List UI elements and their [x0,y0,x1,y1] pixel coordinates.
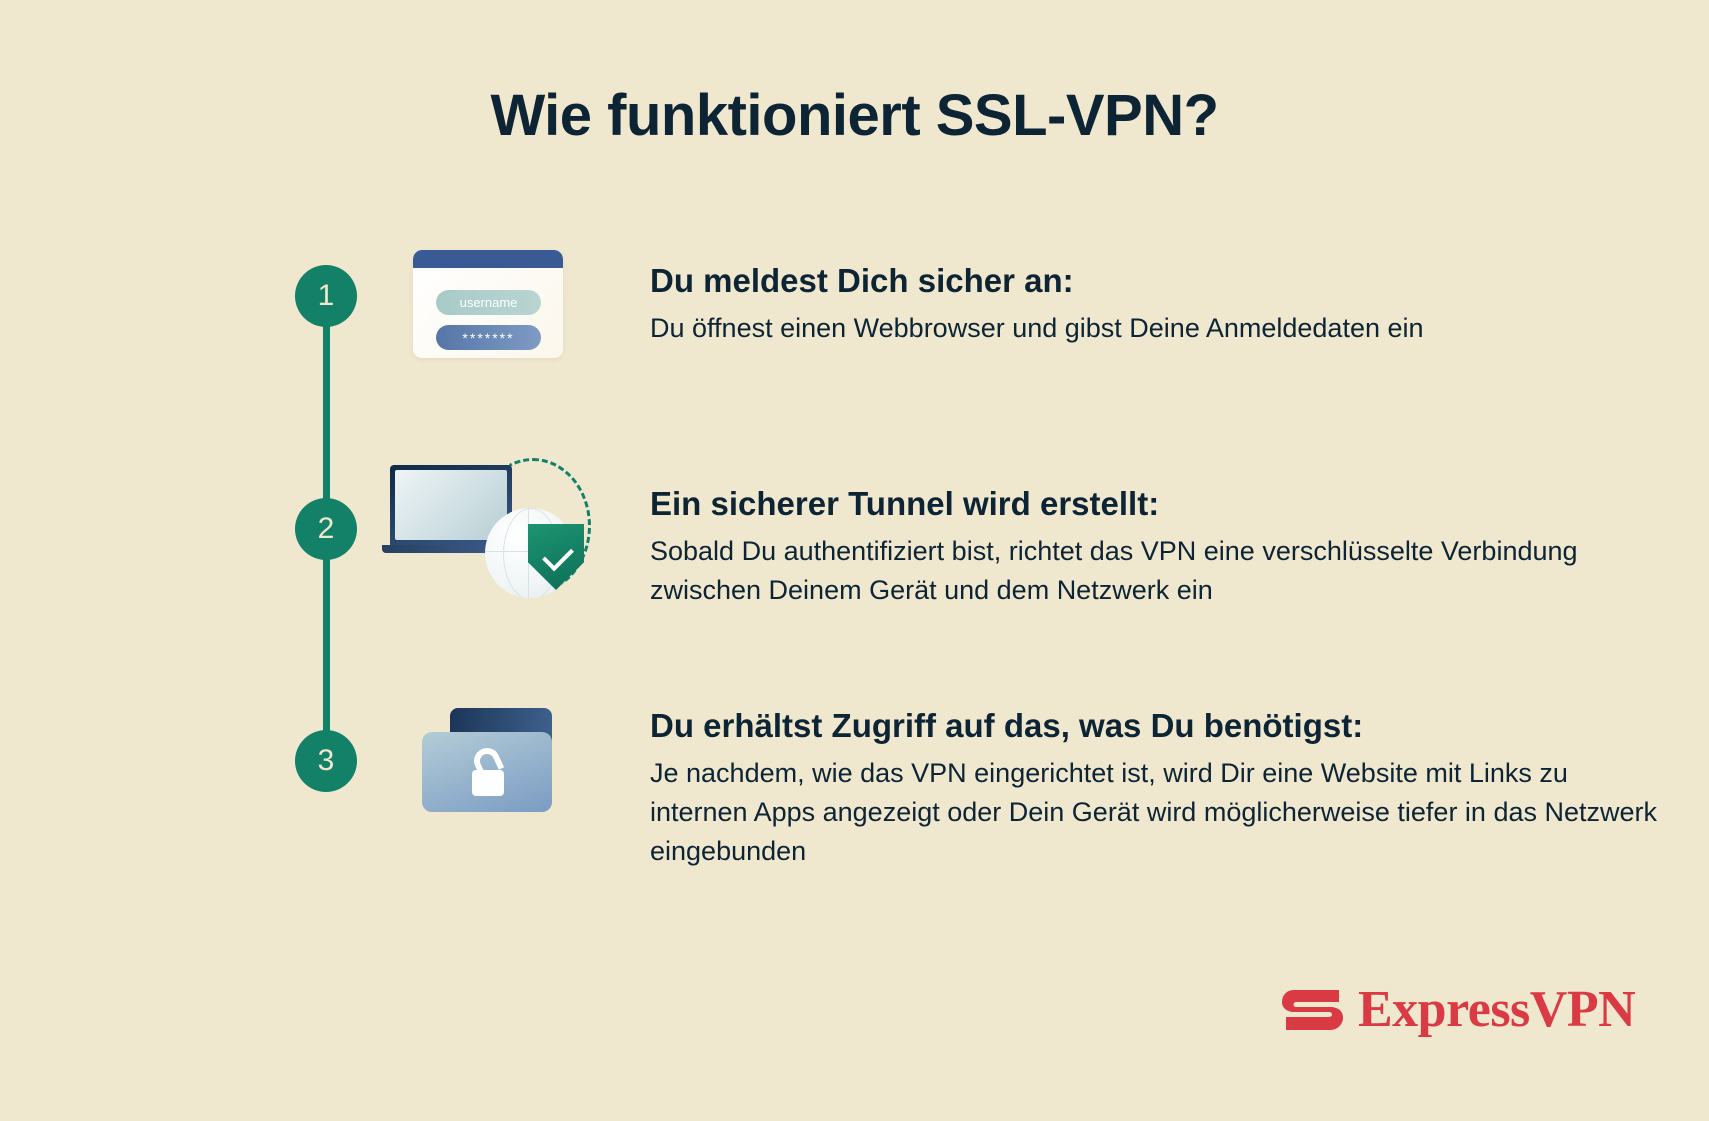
infographic-page: Wie funktioniert SSL-VPN? 1 2 3 username… [0,0,1709,1121]
expressvpn-logo: ExpressVPN [1282,980,1635,1039]
step-1-title: Du meldest Dich sicher an: [650,260,1670,301]
step-marker-2: 2 [295,498,357,560]
step-marker-1: 1 [295,265,357,327]
open-padlock-body-icon [472,770,504,796]
step-3-text: Du erhältst Zugriff auf das, was Du benö… [650,705,1670,871]
step-2-text: Ein sicherer Tunnel wird erstellt: Sobal… [650,483,1670,610]
page-title: Wie funktioniert SSL-VPN? [0,82,1709,149]
folder-unlocked-icon [370,690,600,850]
step-marker-3: 3 [295,730,357,792]
password-field: ******* [436,325,541,350]
step-2-body: Sobald Du authentifiziert bist, richtet … [650,532,1670,610]
login-card-titlebar [413,250,563,268]
step-3-body: Je nachdem, wie das VPN eingerichtet ist… [650,754,1670,871]
username-field: username [436,290,541,315]
login-card: username ******* [413,250,563,358]
step-2-title: Ein sicherer Tunnel wird erstellt: [650,483,1670,524]
expressvpn-wordmark: ExpressVPN [1358,980,1635,1039]
login-card-icon: username ******* [370,240,600,400]
laptop-shield-globe-icon [370,450,600,610]
step-3-title: Du erhältst Zugriff auf das, was Du benö… [650,705,1670,746]
folder-icon [422,708,552,812]
step-1-text: Du meldest Dich sicher an: Du öffnest ei… [650,260,1670,348]
expressvpn-logo-mark [1282,986,1344,1034]
step-1-body: Du öffnest einen Webbrowser und gibst De… [650,309,1670,348]
